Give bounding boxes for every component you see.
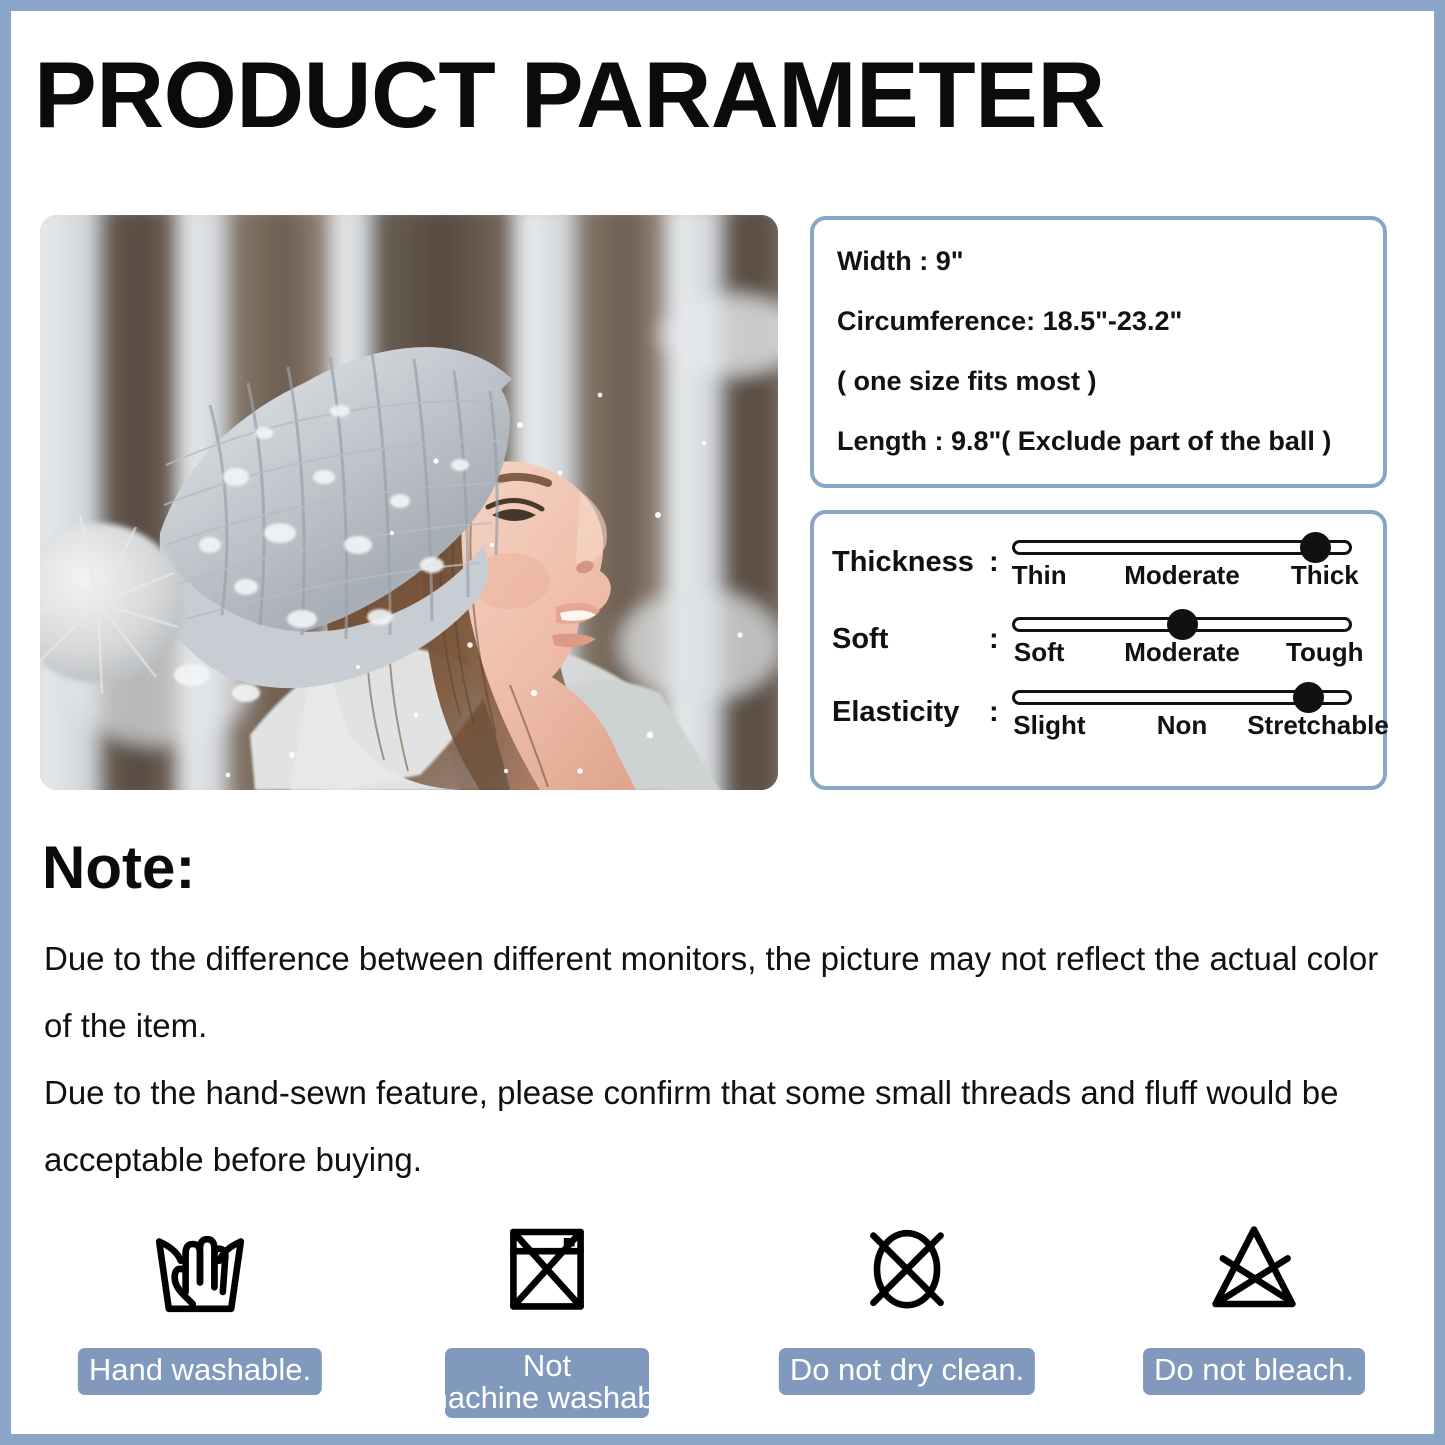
slider-label-elasticity: Elasticity xyxy=(832,696,959,729)
care-label-no-bleach: Do not bleach. xyxy=(1143,1348,1365,1395)
page-title: PRODUCT PARAMETER xyxy=(34,48,1404,142)
slider-colon-elasticity: : xyxy=(989,696,999,729)
material-feel-card: Thickness : Thin Moderate Thick Soft : xyxy=(810,510,1387,790)
slider-row-elasticity: Elasticity : Slight Non Stretchable xyxy=(832,690,1372,768)
slider-label-soft: Soft xyxy=(832,623,888,656)
slider-row-thickness: Thickness : Thin Moderate Thick xyxy=(832,540,1372,618)
slider-thickness[interactable]: Thin Moderate Thick xyxy=(1012,540,1352,592)
scale-tick-moderate: Moderate xyxy=(1124,560,1240,591)
slider-colon-soft: : xyxy=(989,623,999,656)
care-label-line2: machine washable. xyxy=(422,1382,672,1414)
slider-row-soft: Soft : Soft Moderate Tough xyxy=(832,617,1372,695)
slider-soft[interactable]: Soft Moderate Tough xyxy=(1012,617,1352,669)
spec-width: Width : 9" xyxy=(837,248,1369,275)
care-label-no-machine-wash: Not machine washable. xyxy=(445,1348,649,1418)
size-spec-list: Width : 9" Circumference: 18.5"-23.2" ( … xyxy=(837,248,1369,455)
scale-tick-stretchable: Stretchable xyxy=(1247,710,1389,741)
care-item-hand-wash: Hand washable. xyxy=(30,1208,370,1423)
care-item-no-bleach: Do not bleach. xyxy=(1084,1208,1424,1423)
slider-elasticity[interactable]: Slight Non Stretchable xyxy=(1012,690,1352,742)
scale-tick-soft: Soft xyxy=(1014,637,1065,668)
slider-thumb-elasticity[interactable] xyxy=(1293,682,1324,713)
scale-tick-moderate2: Moderate xyxy=(1124,637,1240,668)
note-paragraph-threads: Due to the hand-sewn feature, please con… xyxy=(44,1059,1396,1193)
slider-thumb-thickness[interactable] xyxy=(1300,532,1331,563)
slider-label-thickness: Thickness xyxy=(832,546,974,579)
care-instructions-row: Hand washable. Not machine washable. xyxy=(22,1208,1422,1423)
note-paragraph-color: Due to the difference between different … xyxy=(44,925,1396,1059)
slider-track-soft[interactable] xyxy=(1012,617,1352,632)
spec-circumference: Circumference: 18.5"-23.2" xyxy=(837,308,1369,335)
slider-track-thickness[interactable] xyxy=(1012,540,1352,555)
care-item-no-dry-clean: Do not dry clean. xyxy=(737,1208,1077,1423)
scale-tick-tough: Tough xyxy=(1286,637,1363,668)
slider-scale-thickness: Thin Moderate Thick xyxy=(1012,560,1352,592)
slider-colon-thickness: : xyxy=(989,546,999,579)
spec-fit-note: ( one size fits most ) xyxy=(837,368,1369,395)
care-label-line1: Not xyxy=(449,1350,645,1382)
no-bleach-icon xyxy=(1194,1208,1314,1328)
size-spec-card: Width : 9" Circumference: 18.5"-23.2" ( … xyxy=(810,216,1387,488)
scale-tick-thin: Thin xyxy=(1012,560,1067,591)
care-label-hand-wash: Hand washable. xyxy=(78,1348,322,1395)
product-photo xyxy=(40,215,778,790)
scale-tick-non: Non xyxy=(1157,710,1208,741)
scale-tick-thick: Thick xyxy=(1291,560,1359,591)
slider-track-elasticity[interactable] xyxy=(1012,690,1352,705)
care-item-no-machine-wash: Not machine washable. xyxy=(377,1208,717,1423)
spec-length: Length : 9.8"( Exclude part of the ball … xyxy=(837,428,1369,455)
care-label-no-dry-clean: Do not dry clean. xyxy=(779,1348,1035,1395)
slider-scale-soft: Soft Moderate Tough xyxy=(1012,637,1352,669)
scale-tick-slight: Slight xyxy=(1013,710,1085,741)
no-machine-wash-icon xyxy=(487,1208,607,1328)
product-parameter-infographic: PRODUCT PARAMETER xyxy=(0,0,1445,1445)
note-heading: Note: xyxy=(42,838,195,898)
no-dry-clean-icon xyxy=(847,1208,967,1328)
note-body: Due to the difference between different … xyxy=(44,925,1396,1193)
slider-scale-elasticity: Slight Non Stretchable xyxy=(1012,710,1352,742)
slider-thumb-soft[interactable] xyxy=(1167,609,1198,640)
hand-wash-icon xyxy=(140,1208,260,1328)
